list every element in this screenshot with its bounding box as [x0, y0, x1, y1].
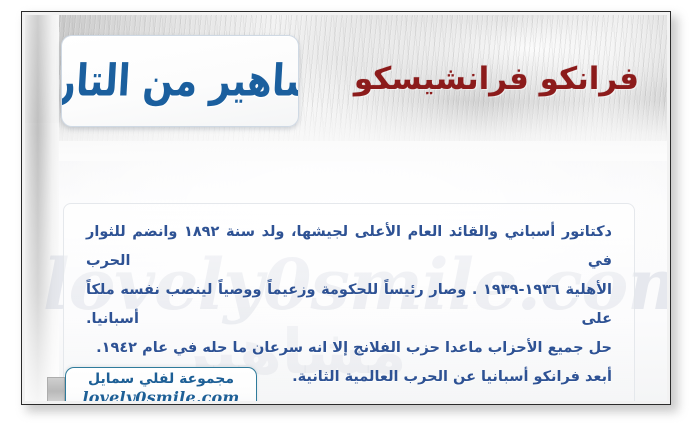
- footer-brand-arabic: مجموعة لفلي سمايل: [88, 371, 234, 388]
- logo-plate[interactable]: مشاهير من التاريخ: [61, 35, 299, 127]
- page-title: فرانكو فرانشيسكو: [354, 61, 639, 97]
- body-line: الأهلية ١٩٣٦-١٩٣٩ . وصار رئيساً للحكومة …: [86, 276, 612, 334]
- card-inner-surface: lovely0smile.com مشاهير مشاهير من التاري…: [25, 15, 667, 401]
- body-line: حل جميع الأحزاب ماعدا حزب الفلانج إلا ان…: [86, 334, 612, 363]
- header-band: مشاهير من التاريخ فرانكو فرانشيسكو: [25, 15, 667, 141]
- footer-side-tab: [47, 377, 65, 401]
- footer-brand-url[interactable]: lovely0smile.com: [82, 388, 239, 402]
- footer-brand-box[interactable]: مجموعة لفلي سمايل lovely0smile.com: [65, 367, 257, 401]
- framed-card: lovely0smile.com مشاهير مشاهير من التاري…: [21, 11, 671, 405]
- logo-calligraphy-text: مشاهير من التاريخ: [61, 56, 299, 106]
- page-root: lovely0smile.com مشاهير مشاهير من التاري…: [0, 0, 692, 432]
- body-line: دكتاتور أسباني والقائد العام الأعلى لجيش…: [86, 218, 612, 276]
- body-text-block: دكتاتور أسباني والقائد العام الأعلى لجيش…: [86, 218, 612, 392]
